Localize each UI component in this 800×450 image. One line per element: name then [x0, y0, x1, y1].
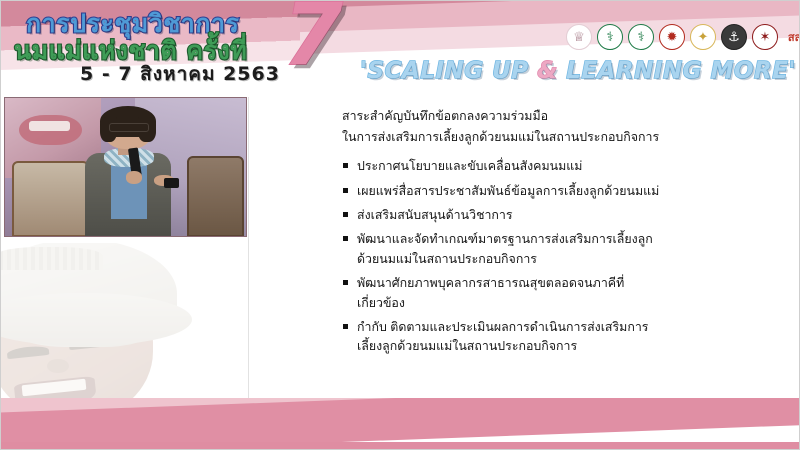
bullet-text-continued: ด้วยนมแม่ในสถานประกอบกิจการ: [357, 250, 786, 269]
bullet-text: พัฒนาและจัดทำเกณฑ์มาตรฐานการส่งเสริมการเ…: [357, 232, 653, 246]
presentation-slide: การประชุมวิชาการ นมแม่แห่งชาติ ครั้งที่ …: [0, 0, 800, 450]
slide-body: สาระสำคัญบันทึกข้อตกลงความร่วมมือ ในการส…: [0, 95, 800, 450]
royal-crest-red-icon: ✹: [667, 31, 678, 44]
bullet-text: เผยแพร่สื่อสารประชาสัมพันธ์ข้อมูลการเลี้…: [357, 184, 659, 198]
chair-left: [12, 161, 88, 237]
slide-content-panel: สาระสำคัญบันทึกข้อตกลงความร่วมมือ ในการส…: [256, 95, 800, 450]
conference-edition-number: 7: [283, 0, 343, 78]
bullet-text: ประกาศนโยบายและขับเคลื่อนสังคมนมแม่: [357, 159, 582, 173]
speaker-hand-left: [126, 171, 143, 183]
tagline-text-after: LEARNING MORE': [558, 58, 796, 84]
list-item: พัฒนาศักยภาพบุคลากรสาธารณสุขตลอดจนภาคีที…: [342, 274, 786, 313]
agreement-bullet-list: ประกาศนโยบายและขับเคลื่อนสังคมนมแม่ เผยแ…: [342, 157, 786, 356]
royal-crest-red-logo: ✹: [659, 24, 685, 50]
child-photo-image: [0, 243, 246, 450]
royal-garuda-gold-icon: ✦: [698, 31, 709, 44]
health-department-logo: ⚕: [628, 24, 654, 50]
speaker-video-thumbnail: [4, 97, 247, 237]
list-item: เผยแพร่สื่อสารประชาสัมพันธ์ข้อมูลการเลี้…: [342, 182, 786, 201]
list-item: พัฒนาและจัดทำเกณฑ์มาตรฐานการส่งเสริมการเ…: [342, 230, 786, 269]
conference-date-range: 5 - 7 สิงหาคม 2563: [80, 59, 280, 89]
bullet-text-continued: เลี้ยงลูกด้วยนมแม่ในสถานประกอบกิจการ: [357, 337, 786, 356]
list-item: กำกับ ติดตามและประเมินผลการดำเนินการส่งเ…: [342, 318, 786, 357]
bullet-text: ส่งเสริมสนับสนุนด้านวิชาการ: [357, 208, 513, 222]
thaihealth-sss-logo: สสส: [783, 25, 800, 49]
royal-emblem-logo: ♕: [566, 24, 592, 50]
university-seal-icon: ✶: [760, 31, 771, 44]
university-seal-logo: ✶: [752, 24, 778, 50]
presentation-clicker: [164, 178, 178, 188]
sponsor-logo-row: ♕ ⚕ ⚕ ✹ ✦ ⚓ ✶ สสส: [566, 24, 800, 50]
bullet-text-continued: เกี่ยวข้อง: [357, 294, 786, 313]
child-photo-watermark: [0, 243, 246, 450]
vertical-divider: [248, 97, 249, 448]
intro-line-1: สาระสำคัญบันทึกข้อตกลงความร่วมมือ: [342, 107, 786, 126]
list-item: ประกาศนโยบายและขับเคลื่อนสังคมนมแม่: [342, 157, 786, 176]
royal-garuda-gold-logo: ✦: [690, 24, 716, 50]
royal-emblem-icon: ♕: [573, 31, 585, 44]
tagline-ampersand: &: [537, 58, 558, 84]
child-photo-pink-bar: [0, 438, 246, 450]
thaihealth-sss-icon: สสส: [788, 32, 800, 43]
intro-line-2: ในการส่งเสริมการเลี้ยงลูกด้วยนมแม่ในสถาน…: [342, 128, 786, 147]
speaker-glasses-icon: [109, 123, 150, 132]
slide-header-banner: การประชุมวิชาการ นมแม่แห่งชาติ ครั้งที่ …: [0, 0, 800, 95]
ministry-public-health-icon: ⚕: [606, 31, 613, 44]
health-department-icon: ⚕: [637, 31, 644, 44]
conference-tagline: 'SCALING UP & LEARNING MORE': [360, 58, 796, 84]
ministry-public-health-logo: ⚕: [597, 24, 623, 50]
child-hat-band: [0, 247, 103, 270]
black-seal-icon: ⚓: [728, 31, 740, 44]
backdrop-teeth-graphic: [29, 121, 70, 131]
bullet-text: พัฒนาศักยภาพบุคลากรสาธารณสุขตลอดจนภาคีที…: [357, 276, 624, 290]
tagline-text-before: 'SCALING UP: [360, 58, 537, 84]
chair-right: [187, 156, 244, 237]
black-seal-logo: ⚓: [721, 24, 747, 50]
list-item: ส่งเสริมสนับสนุนด้านวิชาการ: [342, 206, 786, 225]
bullet-text: กำกับ ติดตามและประเมินผลการดำเนินการส่งเ…: [357, 320, 648, 334]
